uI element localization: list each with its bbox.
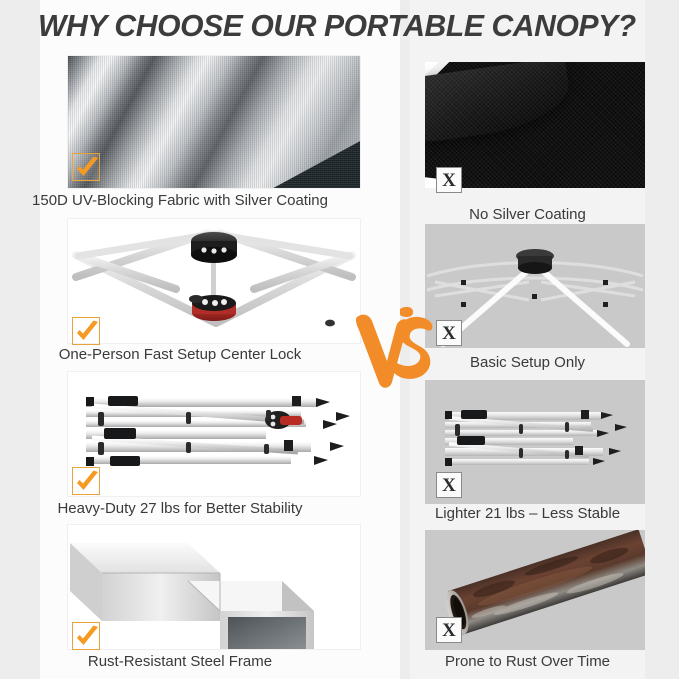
check-badge-row-4 xyxy=(72,622,100,650)
x-badge-row-3: X xyxy=(436,472,462,498)
check-badge-row-3 xyxy=(72,467,100,495)
theirs-caption-row-3: Lighter 21 lbs – Less Stable xyxy=(410,504,645,524)
theirs-caption-row-4: Prone to Rust Over Time xyxy=(410,652,645,672)
ours-panel-folded-frame xyxy=(68,372,360,496)
ours-panel-fabric xyxy=(68,56,360,188)
ours-caption-row-2: One-Person Fast Setup Center Lock xyxy=(0,345,360,365)
x-badge-row-1: X xyxy=(436,167,462,193)
ours-caption-row-1: 150D UV-Blocking Fabric with Silver Coat… xyxy=(0,191,360,211)
x-icon: X xyxy=(442,476,456,495)
x-icon: X xyxy=(442,171,456,190)
check-icon xyxy=(73,468,101,496)
x-icon: X xyxy=(442,324,456,343)
x-icon: X xyxy=(442,621,456,640)
check-icon xyxy=(73,623,101,651)
check-badge-row-2 xyxy=(72,317,100,345)
vs-badge xyxy=(356,303,436,391)
check-icon xyxy=(73,154,101,182)
silver-coated-fabric-image xyxy=(68,56,360,188)
check-badge-row-1 xyxy=(72,153,100,181)
ours-caption-row-4: Rust-Resistant Steel Frame xyxy=(0,652,360,672)
check-icon xyxy=(73,318,101,346)
page-title: WHY CHOOSE OUR PORTABLE CANOPY? xyxy=(38,8,636,44)
fabric-dark-corner xyxy=(266,140,360,188)
canopy-frame-center-lock-image xyxy=(68,219,360,343)
x-badge-row-4: X xyxy=(436,617,462,643)
infographic-root: WHY CHOOSE OUR PORTABLE CANOPY? 150D UV-… xyxy=(0,0,679,679)
ours-panel-steel-tube xyxy=(68,525,360,649)
x-badge-row-2: X xyxy=(436,320,462,346)
square-steel-tube-image xyxy=(68,525,360,649)
theirs-caption-row-1: No Silver Coating xyxy=(410,205,645,225)
vs-icon xyxy=(356,303,436,391)
ours-caption-row-3: Heavy-Duty 27 lbs for Better Stability xyxy=(0,499,360,519)
ours-panel-center-lock xyxy=(68,219,360,343)
folded-frame-bundle-heavy-image xyxy=(68,372,360,496)
header-banner: WHY CHOOSE OUR PORTABLE CANOPY? xyxy=(0,0,679,52)
theirs-caption-row-2: Basic Setup Only xyxy=(410,353,645,373)
